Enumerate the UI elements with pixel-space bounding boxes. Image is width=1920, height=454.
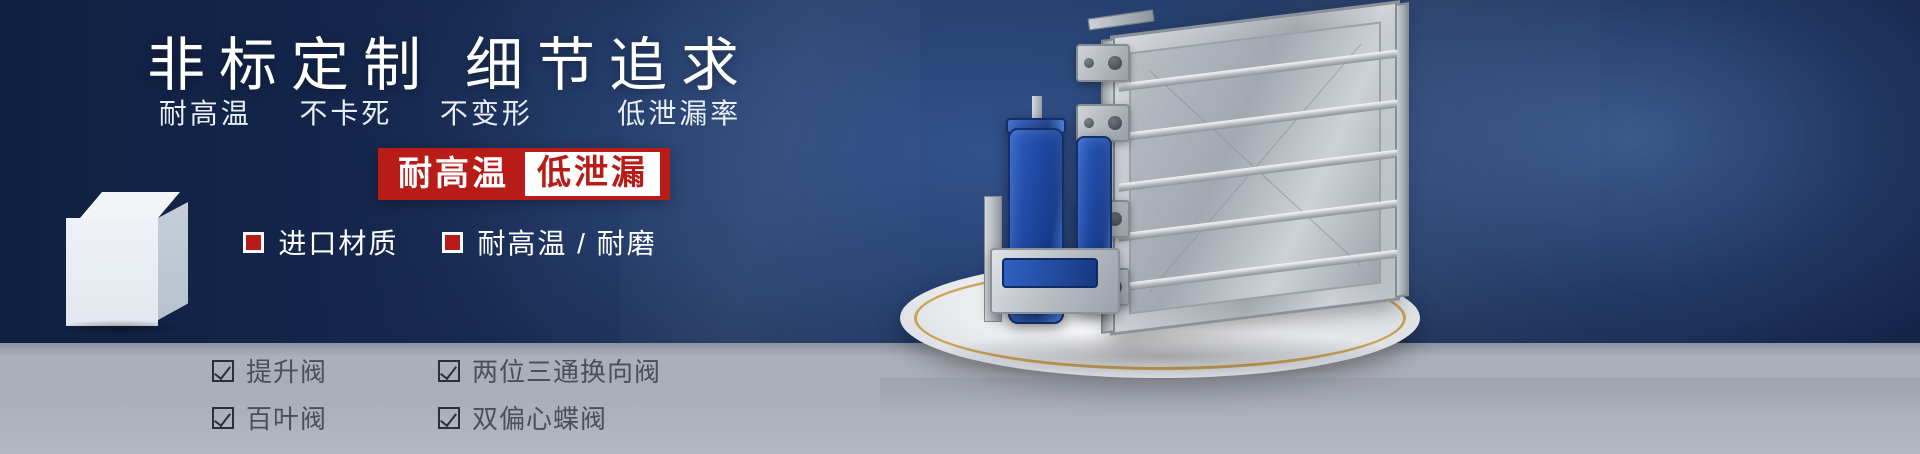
highlight-badge: 耐高温 低泄漏 [378,148,670,200]
checklist-item-label: 双偏心蝶阀 [472,399,607,436]
subtitle-part-3: 不变形 [440,98,533,129]
checkbox-checked-icon [438,407,460,429]
subtitle-part-1: 耐高温 [159,98,252,129]
hinge-bolt-icon [1084,118,1094,128]
pedestal-shadow [920,330,1410,382]
feature-item: 耐高温 / 耐磨 [442,222,656,262]
hinge-bolt-icon [1084,58,1094,68]
red-square-bullet-icon [243,232,264,253]
feature-bullet-row: 进口材质 耐高温 / 耐磨 [0,222,900,262]
feature-item: 进口材质 [243,222,398,262]
checkbox-checked-icon [212,360,234,382]
product-checklist: 提升阀 两位三通换向阀 百叶阀 双偏心蝶阀 [0,352,900,436]
list-item: 提升阀 [212,352,402,389]
hinge-bolt-icon [1108,56,1122,70]
feature-item-label: 耐高温 / 耐磨 [477,222,656,262]
feature-item-label: 进口材质 [278,222,398,262]
checkbox-checked-icon [212,407,234,429]
subtitle-line: 耐高温 不卡死 不变形 低泄漏率 [0,92,900,132]
product-promo-banner: 非标定制 细节追求 耐高温 不卡死 不变形 低泄漏率 耐高温 低泄漏 进口材质 … [0,0,1920,454]
checkbox-checked-icon [438,360,460,382]
checklist-item-label: 提升阀 [246,352,327,389]
red-square-bullet-icon [442,232,463,253]
badge-chip-text: 低泄漏 [525,152,660,196]
hinge-bolt-icon [1108,116,1122,130]
louver-damper-housing [1110,0,1400,336]
actuator-valve-manifold [1002,258,1098,288]
checklist-item-label: 百叶阀 [246,399,327,436]
page-title: 非标定制 细节追求 [0,18,900,102]
damper-right-flange [1395,2,1409,298]
marketing-text-block: 非标定制 细节追求 耐高温 不卡死 不变形 低泄漏率 耐高温 低泄漏 进口材质 … [0,0,920,454]
floor-reflection [880,378,1920,418]
subtitle-part-2: 不卡死 [299,98,392,129]
badge-left-text: 耐高温 [394,157,525,191]
damper-hinge-block [1076,44,1130,82]
damper-top-linkage-arm [1087,9,1154,30]
product-image [880,0,1920,454]
list-item: 百叶阀 [212,399,402,436]
checklist-item-label: 两位三通换向阀 [472,352,661,389]
list-item: 两位三通换向阀 [438,352,688,389]
list-item: 双偏心蝶阀 [438,399,688,436]
subtitle-part-4: 低泄漏率 [617,98,741,129]
